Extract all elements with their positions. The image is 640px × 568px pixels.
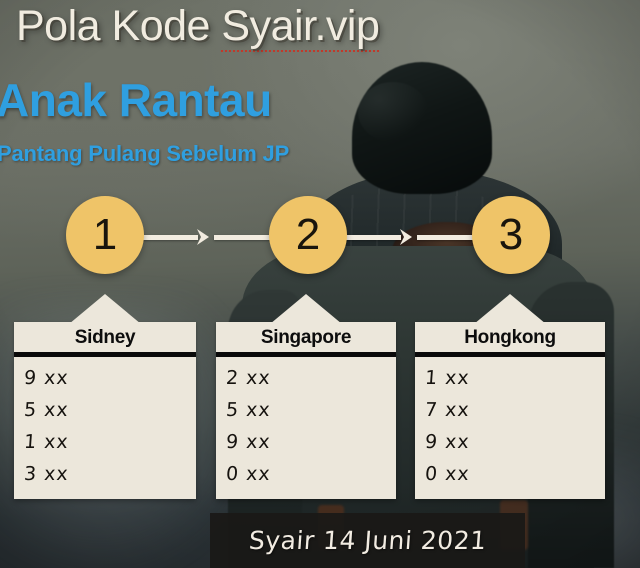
list-item: 1 xx (23, 427, 197, 459)
list-item: 5 xx (225, 395, 397, 427)
step-circle-2-label: 2 (296, 210, 320, 260)
step-circle-1-label: 1 (93, 210, 117, 260)
step-circle-1[interactable]: 1 (66, 196, 144, 274)
market-card-sidney[interactable]: Sidney 9 xx 5 xx 1 xx 3 xx (14, 322, 196, 499)
arrow-1-to-2 (140, 226, 272, 248)
card-body-singapore: 2 xx 5 xx 9 xx 0 xx (216, 357, 396, 499)
list-item: 9 xx (23, 363, 197, 395)
arrow-2-to-3 (343, 226, 475, 248)
list-item: 2 xx (225, 363, 397, 395)
market-card-hongkong[interactable]: Hongkong 1 xx 7 xx 9 xx 0 xx (415, 322, 605, 499)
list-item: 1 xx (424, 363, 606, 395)
card-title-sidney: Sidney (14, 322, 196, 357)
list-item: 9 xx (225, 427, 397, 459)
poster-canvas: Pola Kode Syair.vip Anak Rantau Pantang … (0, 0, 640, 568)
step-circle-3-label: 3 (499, 210, 523, 260)
footer-caption-text: Syair 14 Juni 2021 (248, 526, 488, 555)
list-item: 5 xx (23, 395, 197, 427)
list-item: 3 xx (23, 459, 197, 491)
step-circle-2[interactable]: 2 (269, 196, 347, 274)
card-pointer-triangle (474, 294, 546, 324)
card-title-hongkong: Hongkong (415, 322, 605, 357)
step-circle-3[interactable]: 3 (472, 196, 550, 274)
list-item: 7 xx (424, 395, 606, 427)
card-title-singapore: Singapore (216, 322, 396, 357)
arrow-head-icon (395, 226, 417, 248)
arrow-head-icon (192, 226, 214, 248)
market-card-singapore[interactable]: Singapore 2 xx 5 xx 9 xx 0 xx (216, 322, 396, 499)
card-pointer-triangle (270, 294, 342, 324)
card-body-hongkong: 1 xx 7 xx 9 xx 0 xx (415, 357, 605, 499)
list-item: 9 xx (424, 427, 606, 459)
card-pointer-triangle (69, 294, 141, 324)
list-item: 0 xx (424, 459, 606, 491)
card-body-sidney: 9 xx 5 xx 1 xx 3 xx (14, 357, 196, 499)
list-item: 0 xx (225, 459, 397, 491)
footer-caption-bar: Syair 14 Juni 2021 (210, 513, 525, 568)
